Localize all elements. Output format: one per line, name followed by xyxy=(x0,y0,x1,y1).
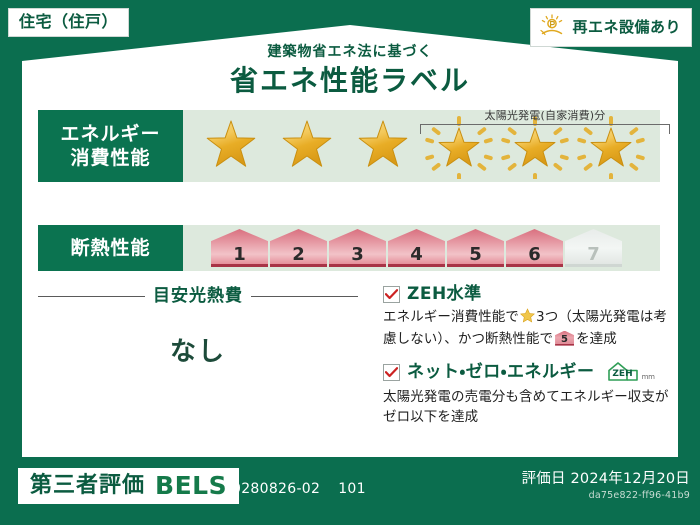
utility-cost-heading: 目安光熱費 xyxy=(38,288,358,305)
insulation-performance-row: 断熱性能 1234567 xyxy=(38,225,660,271)
insulation-grade-badge: 4 xyxy=(388,229,445,267)
zeh-level-title: ZEH水準 xyxy=(407,286,482,303)
grade-badge-number: 5 xyxy=(469,246,482,264)
document-id: da75e822-ff96-41b9 xyxy=(522,491,690,501)
third-party-evaluation-label: 第三者評価 xyxy=(30,475,145,497)
star-icon xyxy=(421,110,497,182)
claim-net-zero-head: ネット・ゼロ・エネルギー ZEH mm xyxy=(383,361,675,383)
star-icon xyxy=(520,308,535,330)
net-zero-checkbox[interactable] xyxy=(383,364,400,381)
star-rating xyxy=(183,110,660,182)
energy-performance-label: 住宅（住戸） 再エネ設備あり 建築物省エネ法に基づく 省エネ性能ラベル xyxy=(0,0,700,525)
star-icon xyxy=(497,110,573,182)
grade-badge-number: 2 xyxy=(292,246,305,264)
grade-badge-number: 7 xyxy=(587,246,600,264)
grade-badge-number: 4 xyxy=(410,246,423,264)
star-icon xyxy=(269,110,345,182)
energy-performance-label: エネルギー 消費性能 xyxy=(38,110,183,182)
utility-cost-heading-text: 目安光熱費 xyxy=(153,288,243,305)
star-icon xyxy=(573,110,649,182)
building-type-tag: 住宅（住戸） xyxy=(8,8,129,37)
label-footer: 第三者評価 BELS 0280826-02 101 評価日 2024年12月20… xyxy=(0,460,700,525)
insulation-label-text: 断熱性能 xyxy=(70,236,150,260)
zeh-desc-part3: を達成 xyxy=(576,331,617,347)
utility-cost-value: なし xyxy=(38,339,358,365)
zeh-level-description: エネルギー消費性能で3つ（太陽光発電は考慮しない）、かつ断熱性能で5を達成 xyxy=(383,308,675,349)
inline-grade-number: 5 xyxy=(555,331,574,346)
grade-badge-number: 1 xyxy=(233,246,246,264)
bels-plate: 第三者評価 BELS xyxy=(18,468,239,504)
net-zero-description: 太陽光発電の売電分も含めてエネルギー収支がゼロ以下を達成 xyxy=(383,388,675,427)
insulation-performance-value: 1234567 xyxy=(183,225,660,271)
energy-label-line2: 消費性能 xyxy=(70,146,150,170)
insulation-grade-badge: 2 xyxy=(270,229,327,267)
certificate-number: 0280826-02 xyxy=(232,482,320,496)
insulation-grade-badge: 1 xyxy=(211,229,268,267)
zeh-logo-trademark: mm xyxy=(642,374,655,383)
label-title-block: 建築物省エネ法に基づく 省エネ性能ラベル xyxy=(0,44,700,97)
net-zero-title: ネット・ゼロ・エネルギー xyxy=(407,364,595,381)
bels-logo-text: BELS xyxy=(155,473,227,498)
bels-numbers: 0280826-02 101 xyxy=(232,482,366,496)
claims-block: ZEH水準 エネルギー消費性能で3つ（太陽光発電は考慮しない）、かつ断熱性能で5… xyxy=(383,286,675,439)
building-type-label: 住宅（住戸） xyxy=(19,12,118,31)
energy-performance-value xyxy=(183,110,660,182)
star-icon xyxy=(193,110,269,182)
sun-icon xyxy=(539,14,565,40)
renewable-energy-badge: 再エネ設備あり xyxy=(530,8,692,47)
insulation-grade-badge: 6 xyxy=(506,229,563,267)
heading-rule-left xyxy=(38,296,145,297)
claim-zeh-level: ZEH水準 エネルギー消費性能で3つ（太陽光発電は考慮しない）、かつ断熱性能で5… xyxy=(383,286,675,349)
insulation-grade-badge: 5 xyxy=(447,229,504,267)
grade-badge-number: 6 xyxy=(528,246,541,264)
zeh-desc-part1: エネルギー消費性能で xyxy=(383,309,519,325)
label-title: 省エネ性能ラベル xyxy=(0,65,700,97)
insulation-performance-label: 断熱性能 xyxy=(38,225,183,271)
insulation-grade-badge: 7 xyxy=(565,229,622,267)
utility-cost-block: 目安光熱費 なし xyxy=(38,288,358,365)
star-icon xyxy=(345,110,421,182)
renewable-energy-label: 再エネ設備あり xyxy=(572,20,681,35)
energy-label-line1: エネルギー xyxy=(60,122,160,146)
evaluation-date: 評価日 2024年12月20日 xyxy=(522,472,690,488)
claim-zeh-level-head: ZEH水準 xyxy=(383,286,675,303)
footer-right-block: 評価日 2024年12月20日 da75e822-ff96-41b9 xyxy=(522,472,690,500)
unit-number: 101 xyxy=(338,482,366,496)
zeh-house-logo: ZEH mm xyxy=(606,361,655,383)
energy-performance-row: エネルギー 消費性能 xyxy=(38,110,660,182)
svg-text:ZEH: ZEH xyxy=(612,369,632,379)
zeh-level-checkbox[interactable] xyxy=(383,286,400,303)
insulation-grade-inline-badge: 5 xyxy=(555,331,574,346)
insulation-grade-scale: 1234567 xyxy=(183,225,660,271)
insulation-grade-badge: 3 xyxy=(329,229,386,267)
heading-rule-right xyxy=(251,296,358,297)
grade-badge-number: 3 xyxy=(351,246,364,264)
claim-net-zero-energy: ネット・ゼロ・エネルギー ZEH mm 太陽光発電の売電分も含めてエネルギー収支… xyxy=(383,361,675,427)
